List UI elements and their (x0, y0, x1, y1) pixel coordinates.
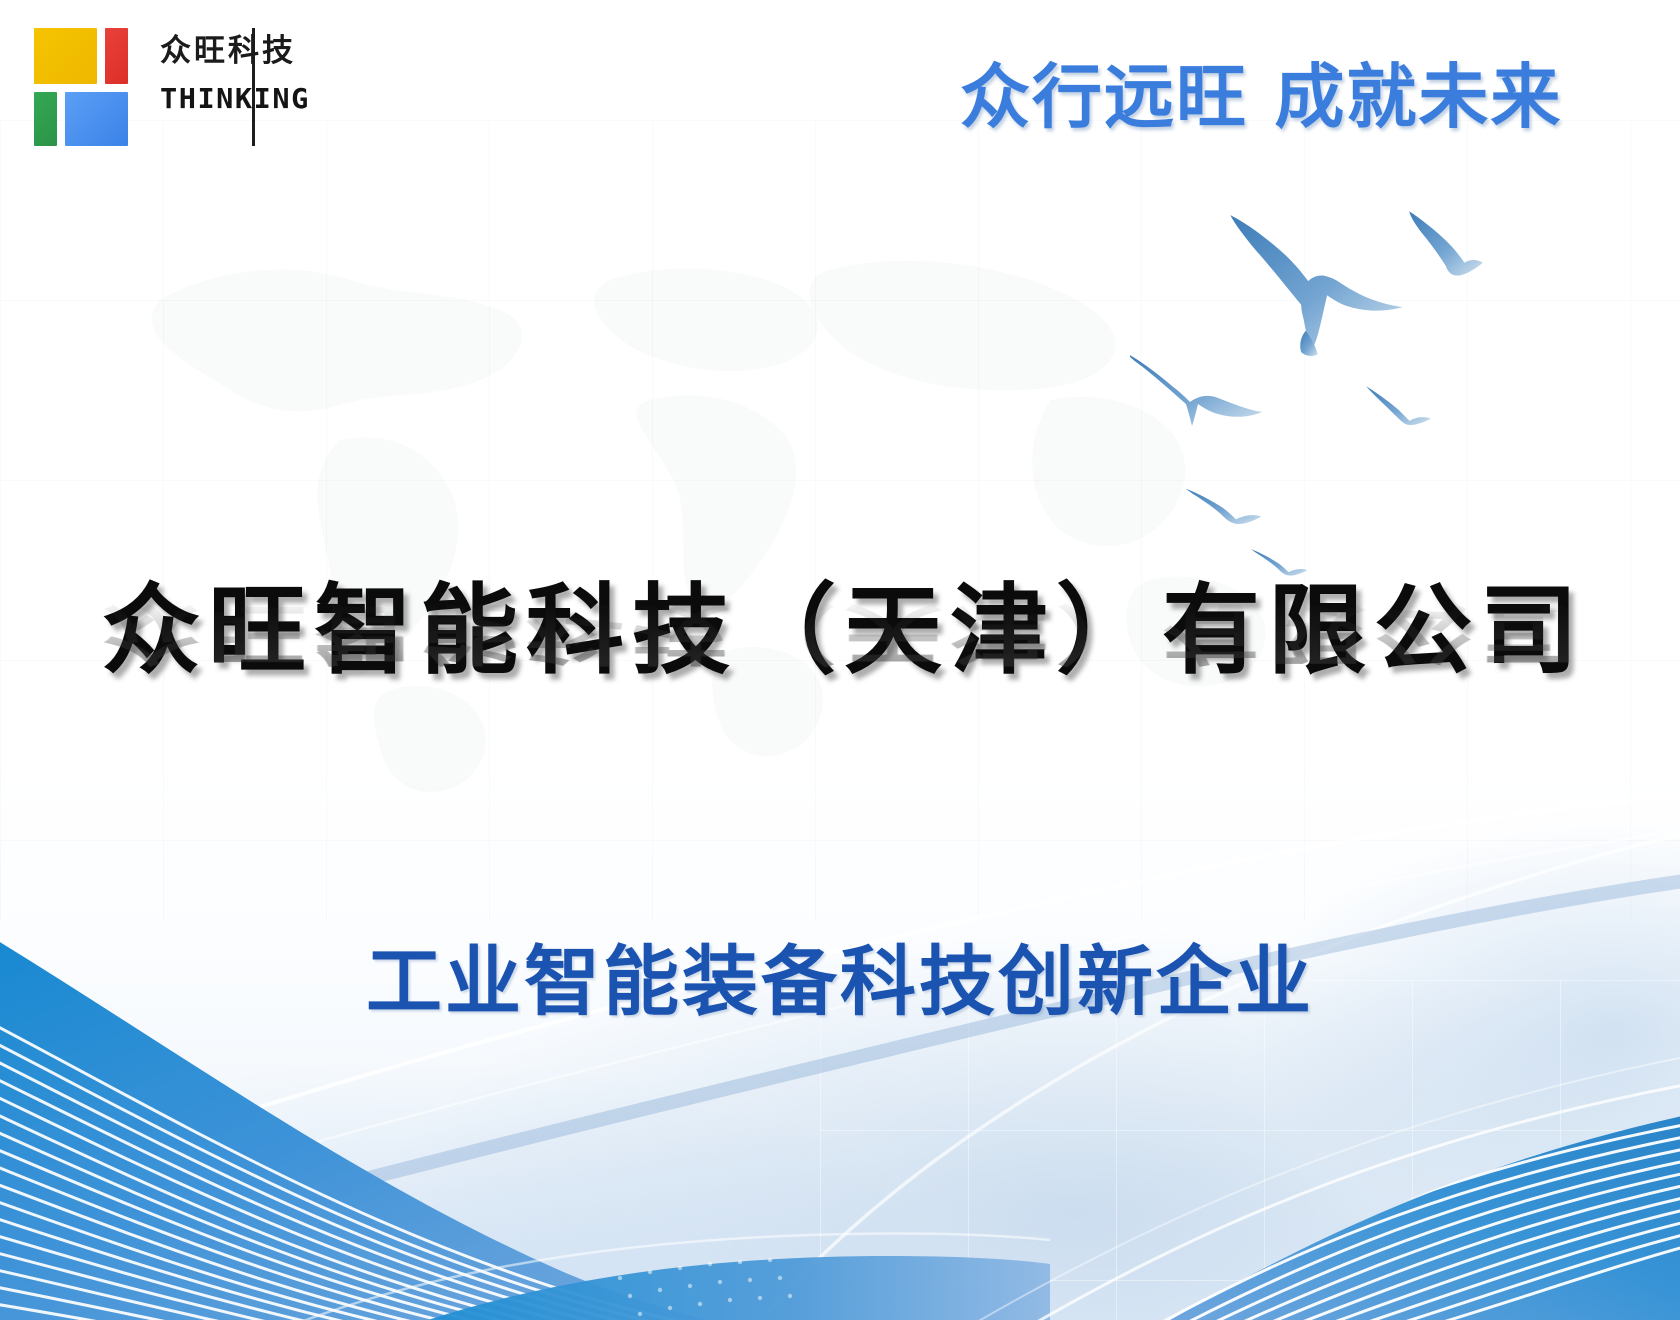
logo-square-yellow-icon (34, 28, 97, 84)
company-logo[interactable]: 众旺科技 THINKING (28, 28, 255, 146)
logo-square-red-icon (105, 28, 128, 84)
page-title-reflection: 众旺智能科技（天津）有限公司 (0, 597, 1680, 668)
logo-name-cn: 众旺科技 (160, 34, 310, 70)
logo-mark-icon (34, 28, 128, 146)
page-subtitle: 工业智能装备科技创新企业 (0, 920, 1680, 1030)
presentation-slide: 众旺科技 THINKING 众行远旺 成就未来 众旺智能科技（天津）有限公司 众… (0, 0, 1680, 1320)
wave-bottom-right (910, 996, 1680, 1320)
logo-square-green-icon (34, 92, 57, 146)
logo-square-blue-icon (65, 92, 128, 146)
logo-wordmark: 众旺科技 THINKING (160, 34, 310, 115)
title-group: 众旺智能科技（天津）有限公司 众旺智能科技（天津）有限公司 (0, 578, 1680, 776)
header-slogan: 众行远旺 成就未来 (960, 58, 1620, 136)
logo-name-en: THINKING (160, 82, 313, 115)
